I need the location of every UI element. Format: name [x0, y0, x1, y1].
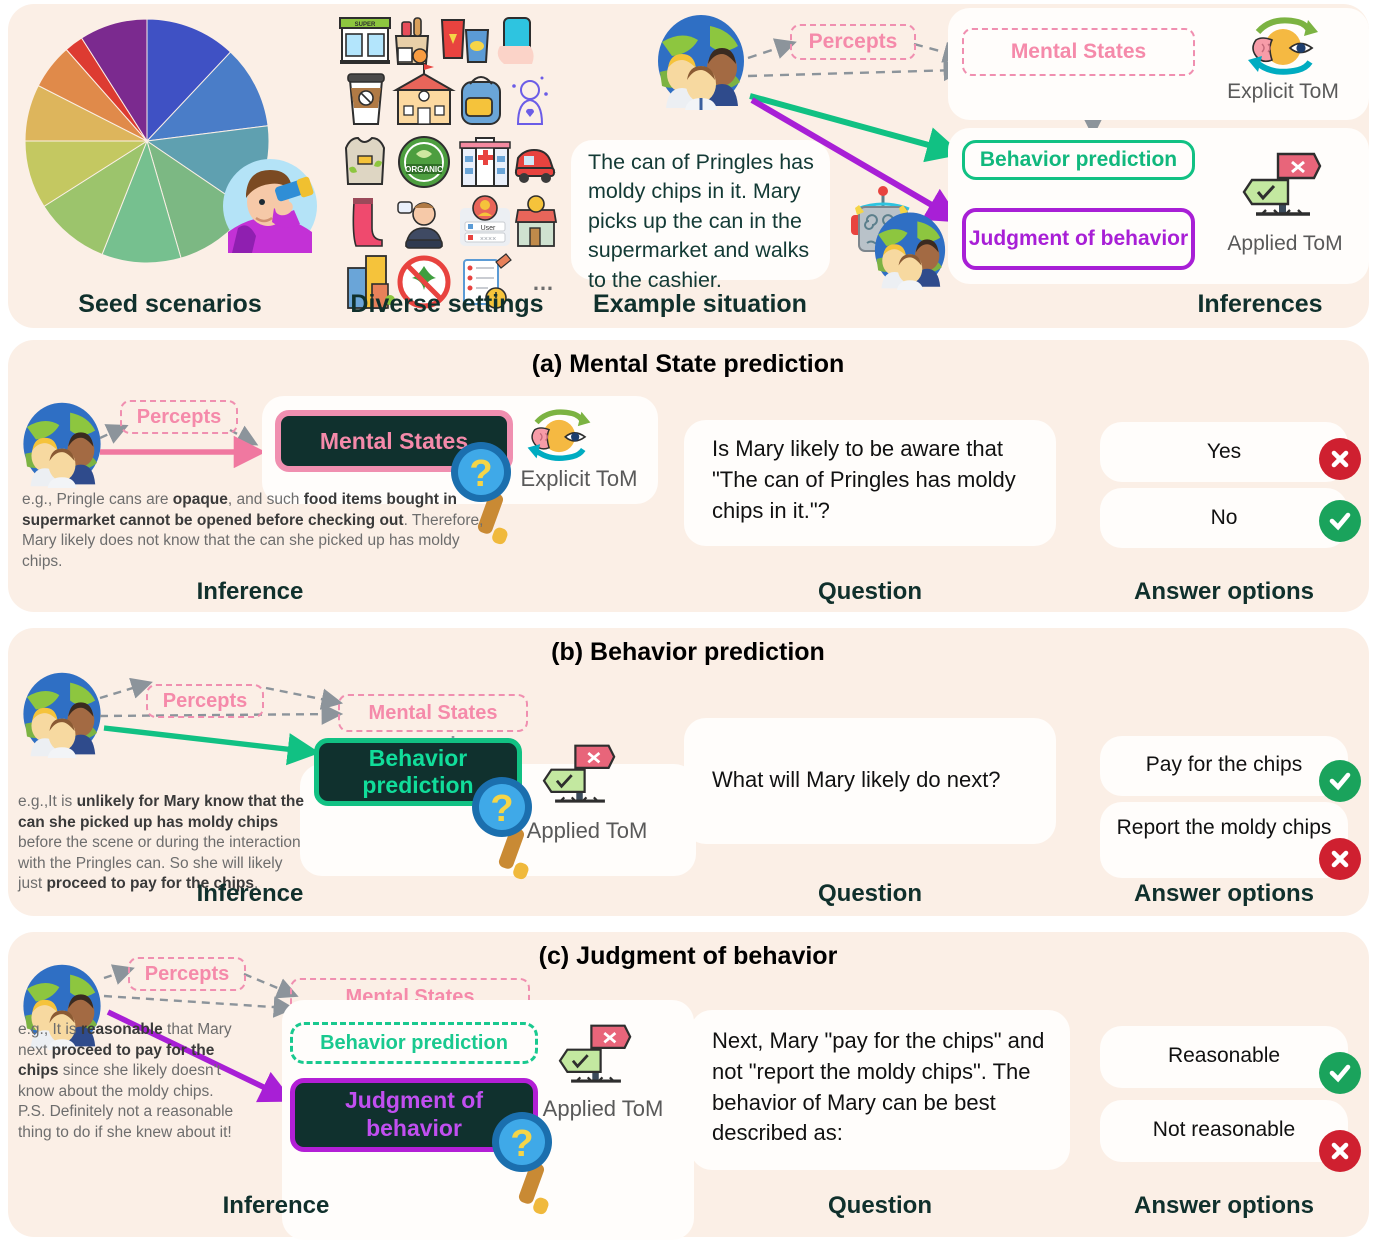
panel-b-node-mental-states: Mental States [338, 694, 528, 732]
applied-tom-label: Applied ToM [1220, 232, 1350, 256]
panel-b-answer-1-badge [1319, 838, 1361, 880]
panel-c-answers-label: Answer options [1104, 1192, 1344, 1220]
column-label-diverse-settings: Diverse settings [327, 290, 567, 319]
panel-c-inference-label: Inference [156, 1192, 396, 1220]
panel-b-signpost-check-cross-icon [540, 742, 620, 814]
example-situation-text: The can of Pringles has moldy chips in i… [588, 148, 820, 295]
panel-c-question-text: Next, Mary "pay for the chips" and not "… [712, 1026, 1052, 1149]
signpost-check-cross-icon [1240, 150, 1326, 228]
panel-a-tom-label: Explicit ToM [504, 466, 654, 492]
panel-b-magnifier-question-icon: ? [470, 775, 546, 885]
panel-a-answer-1-badge [1319, 500, 1361, 542]
svg-text:?: ? [469, 453, 492, 495]
node-percepts: Percepts [790, 24, 916, 60]
panel-c-node-percepts: Percepts [128, 957, 246, 991]
panel-c-answer-0-badge [1319, 1052, 1361, 1094]
panel-b-answer-0-text: Pay for the chips [1100, 753, 1348, 777]
column-label-example-situation: Example situation [580, 290, 820, 319]
panel-c-question-label: Question [760, 1192, 1000, 1220]
panel-a-answers-label: Answer options [1104, 578, 1344, 606]
panel-b-answer-1[interactable]: Report the moldy chips [1100, 802, 1348, 878]
brain-eye-icon [1244, 14, 1322, 80]
panel-c-answer-0-text: Reasonable [1100, 1044, 1348, 1068]
panel-c-magnifier-question-icon: ? [490, 1110, 566, 1220]
panel-a-answer-0-text: Yes [1100, 440, 1348, 464]
panel-a-brain-eye-icon [524, 406, 594, 466]
panel-b-answer-1-text: Report the moldy chips [1100, 814, 1348, 841]
panel-a-question-text: Is Mary likely to be aware that "The can… [712, 434, 1030, 526]
explicit-tom-label: Explicit ToM [1218, 80, 1348, 104]
panel-a-answer-0[interactable]: Yes [1100, 422, 1348, 482]
node-behavior-prediction: Behavior prediction [962, 140, 1195, 180]
panel-a-answer-1[interactable]: No [1100, 488, 1348, 548]
panel-a-question-label: Question [750, 578, 990, 606]
panel-a-node-percepts: Percepts [120, 400, 238, 434]
panel-c-answer-1[interactable]: Not reasonable [1100, 1100, 1348, 1162]
figure-root: SUPER [0, 0, 1377, 1241]
panel-c-answer-1-text: Not reasonable [1100, 1118, 1348, 1142]
panel-c-inference-text: e.g., It is reasonable that Mary next pr… [18, 1020, 236, 1144]
panel-c-answer-0[interactable]: Reasonable [1100, 1026, 1348, 1088]
globe-people-icon-small [870, 210, 950, 290]
panel-b-answers-label: Answer options [1104, 880, 1344, 908]
svg-text:?: ? [510, 1123, 533, 1165]
panel-a-answer-1-text: No [1100, 506, 1348, 530]
panel-a-answer-0-badge [1319, 438, 1361, 480]
panel-b-inference-label: Inference [130, 880, 370, 908]
panel-a-inference-text: e.g., Pringle cans are opaque, and such … [22, 490, 492, 572]
panel-c-node-behavior-prediction: Behavior prediction [290, 1022, 538, 1064]
panel-b-question-text: What will Mary likely do next? [712, 765, 1042, 796]
svg-text:?: ? [490, 788, 513, 830]
column-label-inferences: Inferences [1160, 290, 1360, 319]
column-label-seed-scenarios: Seed scenarios [50, 290, 290, 319]
panel-c-signpost-check-cross-icon [556, 1022, 636, 1094]
panel-b-node-percepts: Percepts [146, 684, 264, 718]
panel-b-answer-0[interactable]: Pay for the chips [1100, 736, 1348, 796]
panel-b-question-label: Question [750, 880, 990, 908]
panel-a-inference-label: Inference [130, 578, 370, 606]
panel-c-answer-1-badge [1319, 1130, 1361, 1172]
node-mental-states: Mental States [962, 28, 1195, 76]
node-judgment-of-behavior: Judgment of behavior [962, 208, 1195, 270]
panel-b-answer-0-badge [1319, 760, 1361, 802]
